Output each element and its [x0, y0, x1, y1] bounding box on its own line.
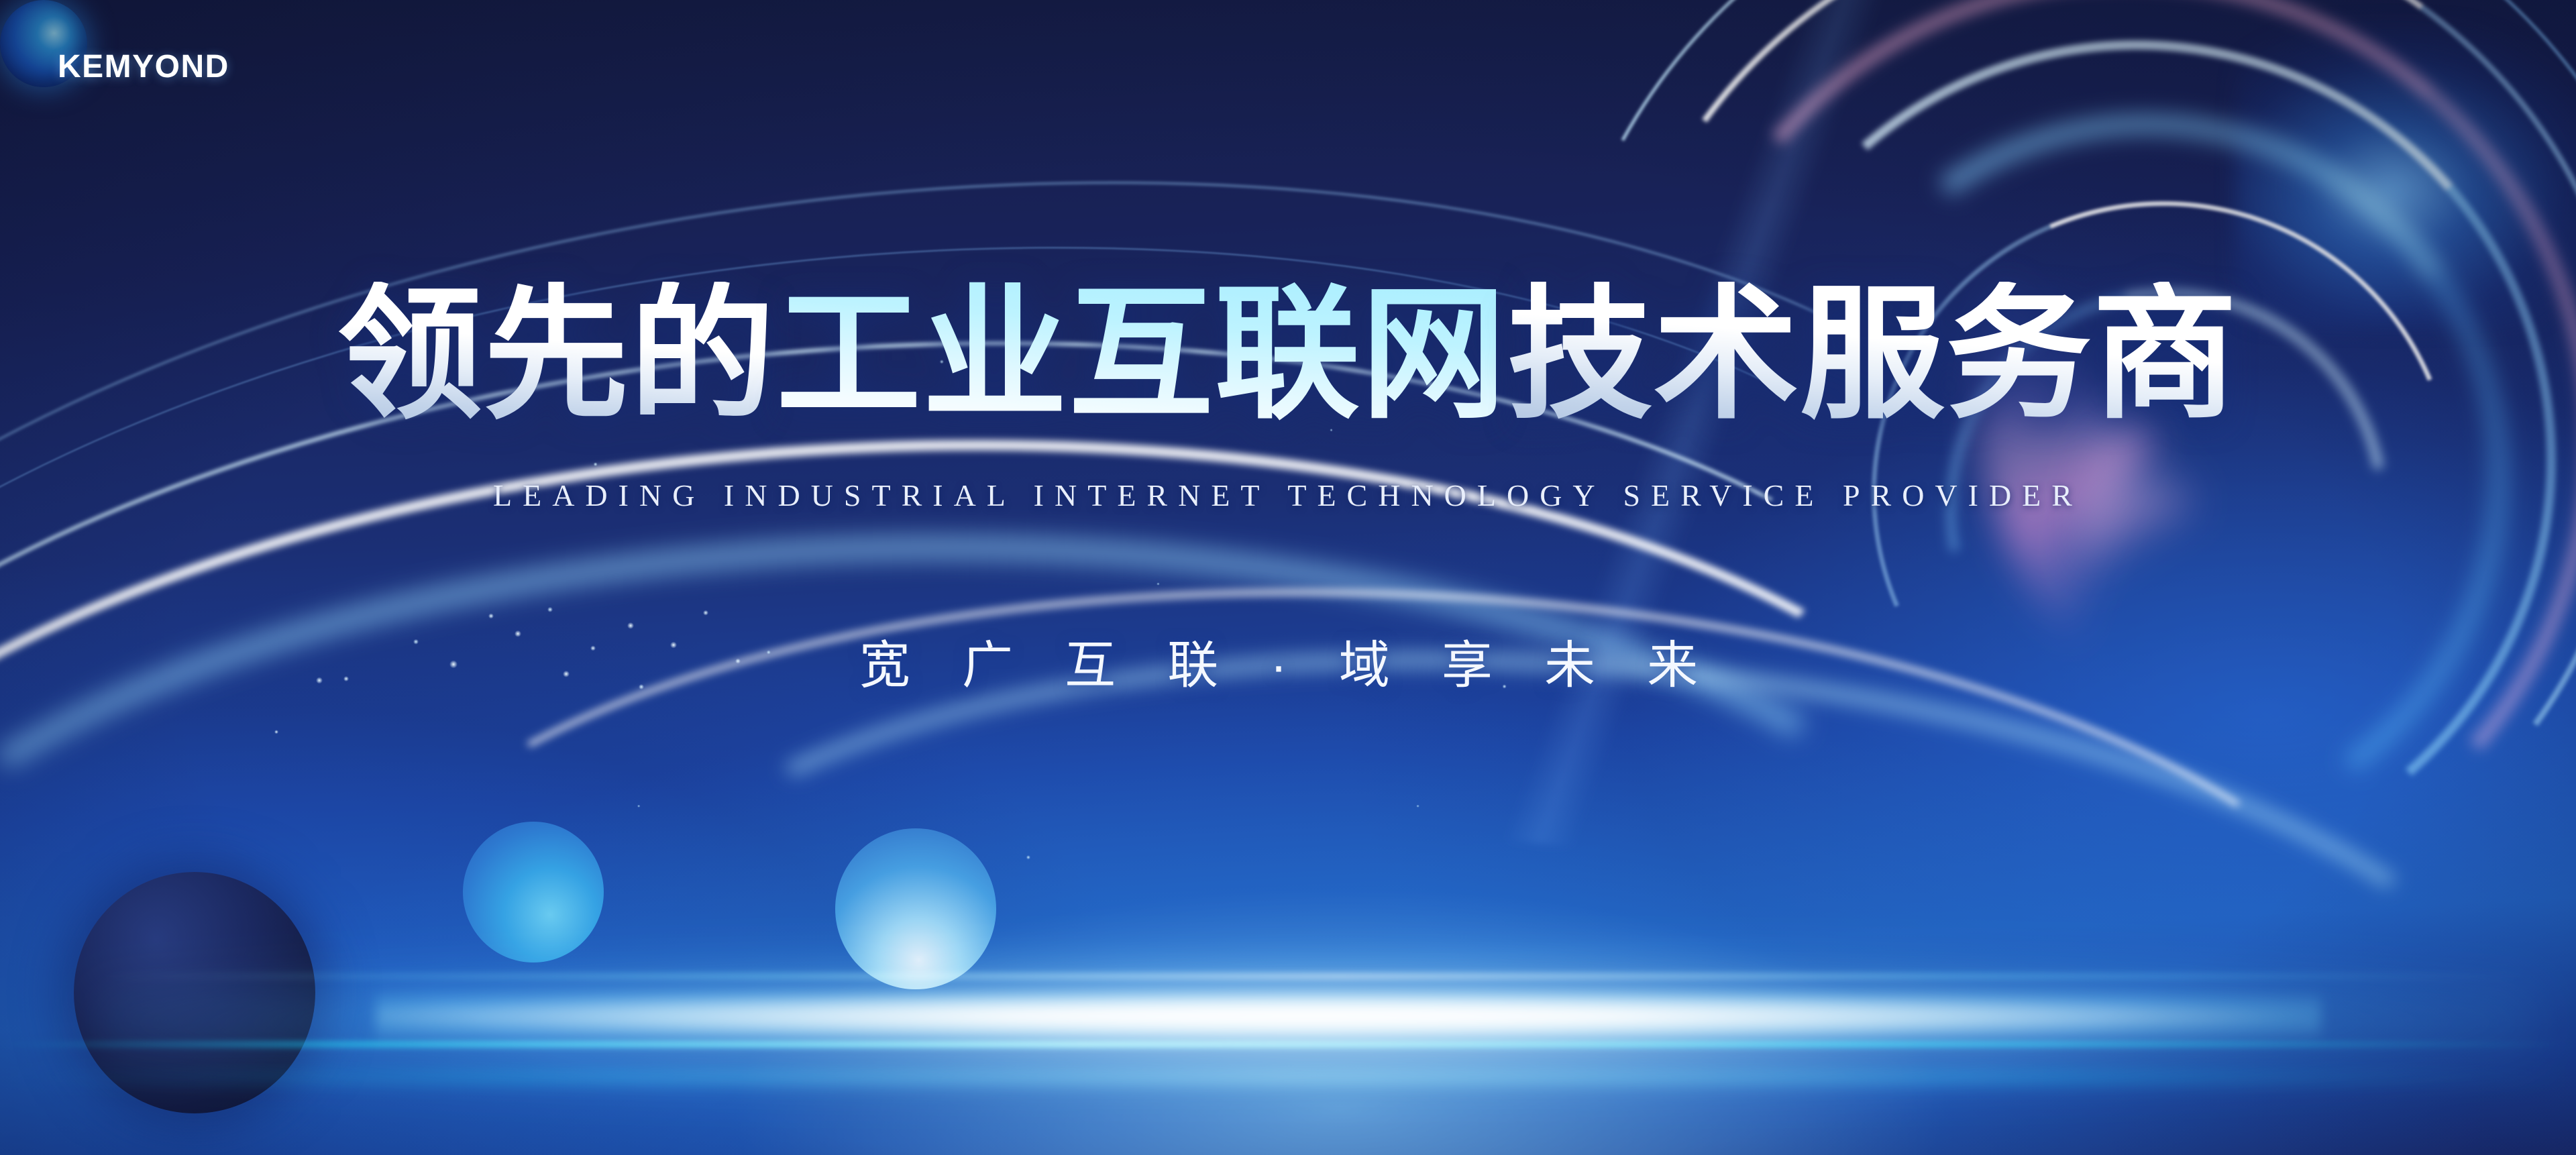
brand-logo: KEMYOND [58, 48, 229, 85]
headline-segment-3: 技术服务商 [1507, 282, 2239, 427]
page-subtitle: LEADING INDUSTRIAL INTERNET TECHNOLOGY S… [0, 478, 2576, 513]
headline-segment-1: 领先的 [337, 282, 776, 427]
banner-content: KEMYOND 领先的工业互联网技术服务商 LEADING INDUSTRIAL… [0, 0, 2576, 1155]
headline-segment-2: 工业互联网 [776, 282, 1507, 427]
page-title: 领先的工业互联网技术服务商 [0, 282, 2576, 427]
marketing-banner: KEMYOND 领先的工业互联网技术服务商 LEADING INDUSTRIAL… [0, 0, 2576, 1155]
brand-slogan: 宽 广 互 联 · 域 享 未 来 [0, 624, 2576, 698]
